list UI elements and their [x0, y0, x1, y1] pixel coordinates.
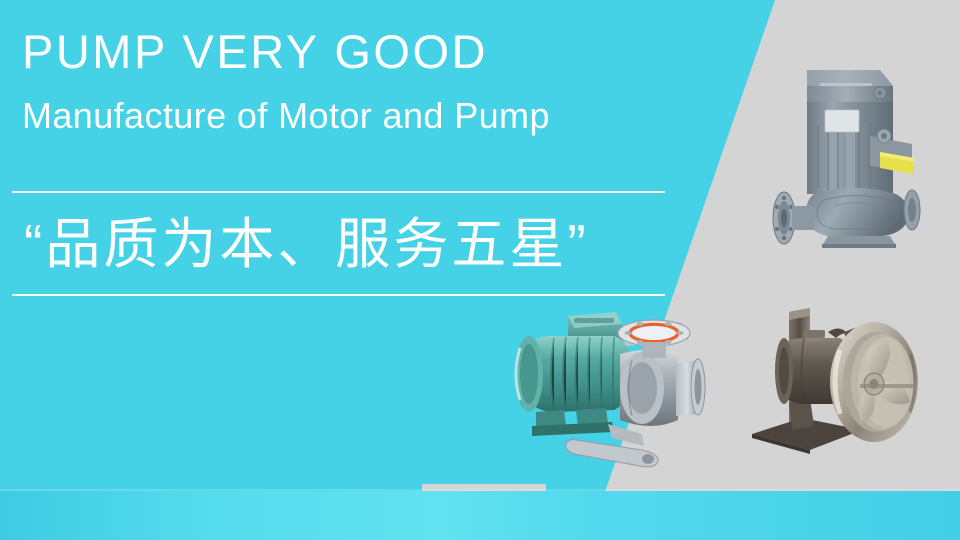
promo-banner: PUMP VERY GOOD Manufacture of Motor and … [0, 0, 960, 540]
bottom-color-band [0, 491, 960, 540]
product-image-vertical-inline-pipeline-pump [762, 48, 948, 248]
slogan-text: “品质为本、服务五星” [24, 199, 589, 289]
divider-top [12, 191, 665, 193]
page-title: PUMP VERY GOOD [22, 26, 722, 79]
product-image-submersible-mixer [744, 292, 946, 470]
page-subtitle: Manufacture of Motor and Pump [22, 95, 722, 136]
headline-group: PUMP VERY GOOD Manufacture of Motor and … [22, 26, 722, 136]
product-image-horizontal-centrifugal-pump [492, 302, 724, 470]
divider-bottom [12, 294, 665, 296]
